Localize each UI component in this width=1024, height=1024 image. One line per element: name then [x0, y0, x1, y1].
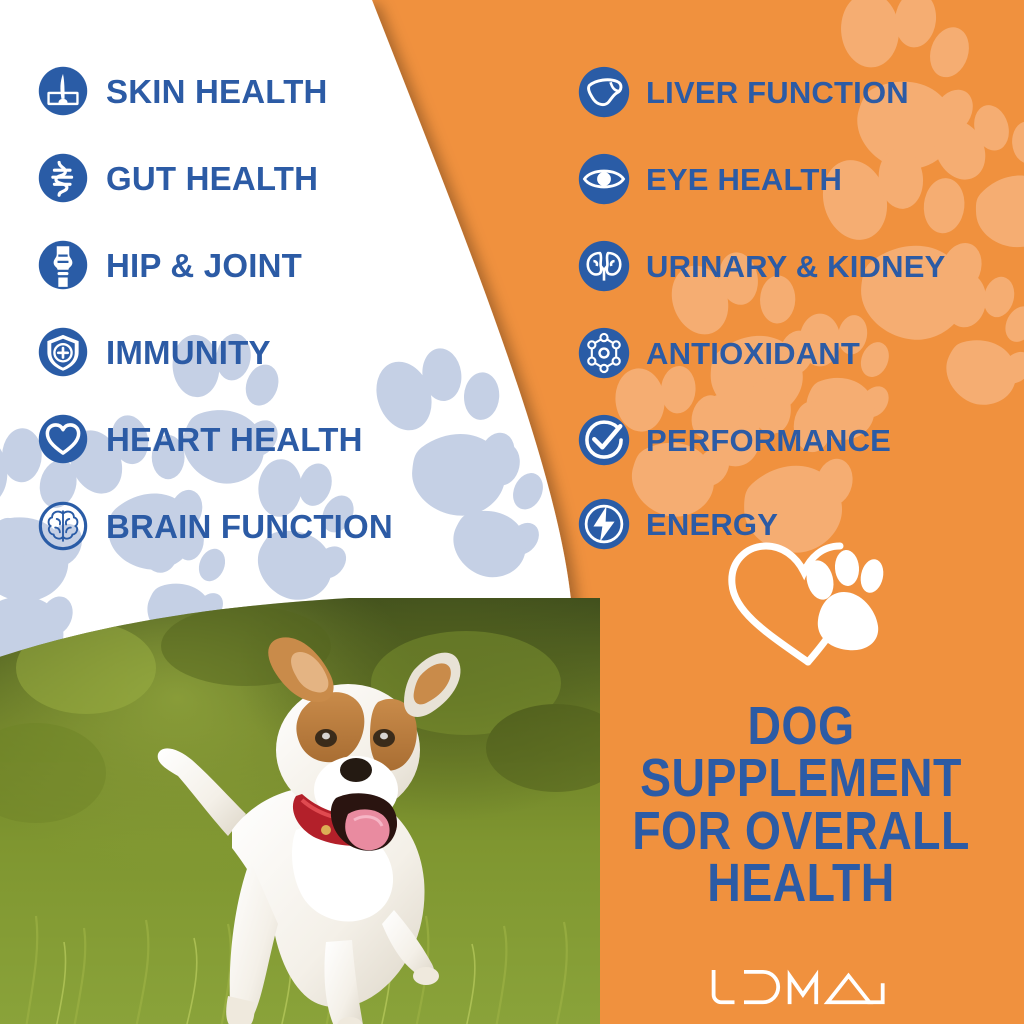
kidney-icon: [578, 240, 630, 292]
feature-label: EYE HEALTH: [646, 164, 842, 195]
feature-label: HIP & JOINT: [106, 249, 302, 282]
feature-item-immunity[interactable]: IMMUNITY: [38, 327, 271, 377]
molecule-icon: [578, 327, 630, 379]
feature-item-liver-function[interactable]: LIVER FUNCTION: [578, 66, 909, 118]
feature-item-urinary-kidney[interactable]: URINARY & KIDNEY: [578, 240, 945, 292]
heart-paw-logo: [716, 530, 896, 670]
jdma-wordmark-icon: [706, 966, 896, 1010]
brain-icon: [38, 501, 88, 551]
check-circle-icon: [578, 414, 630, 466]
feature-item-antioxidant[interactable]: ANTIOXIDANT: [578, 327, 860, 379]
headline-block: DOG SUPPLEMENT FOR OVERALL HEALTH: [609, 700, 993, 910]
feature-label: URINARY & KIDNEY: [646, 251, 945, 282]
feature-label: ANTIOXIDANT: [646, 338, 860, 369]
heart-icon: [38, 414, 88, 464]
intestine-icon: [38, 153, 88, 203]
feature-item-brain-function[interactable]: BRAIN FUNCTION: [38, 501, 393, 551]
joint-icon: [38, 240, 88, 290]
lightning-icon: [578, 498, 630, 550]
feature-label: HEART HEALTH: [106, 423, 363, 456]
liver-icon: [578, 66, 630, 118]
infographic-canvas: SKIN HEALTH GUT HEALTH: [0, 0, 1024, 1024]
feature-label: SKIN HEALTH: [106, 75, 328, 108]
brand-logo: [578, 966, 1024, 1015]
skin-icon: [38, 66, 88, 116]
feature-item-performance[interactable]: PERFORMANCE: [578, 414, 891, 466]
feature-label: GUT HEALTH: [106, 162, 318, 195]
feature-item-hip-joint[interactable]: HIP & JOINT: [38, 240, 302, 290]
feature-item-gut-health[interactable]: GUT HEALTH: [38, 153, 318, 203]
headline-line-2: SUPPLEMENT: [609, 752, 993, 804]
feature-label: IMMUNITY: [106, 336, 271, 369]
feature-item-heart-health[interactable]: HEART HEALTH: [38, 414, 363, 464]
feature-item-eye-health[interactable]: EYE HEALTH: [578, 153, 842, 205]
dog-photo: [0, 598, 600, 1024]
eye-icon: [578, 153, 630, 205]
feature-item-skin-health[interactable]: SKIN HEALTH: [38, 66, 328, 116]
headline-line-1: DOG: [609, 700, 993, 752]
feature-label: LIVER FUNCTION: [646, 77, 909, 108]
feature-label: PERFORMANCE: [646, 425, 891, 456]
feature-label: BRAIN FUNCTION: [106, 510, 393, 543]
shield-plus-icon: [38, 327, 88, 377]
headline-line-4: HEALTH: [609, 857, 993, 909]
headline-line-3: FOR OVERALL: [609, 805, 993, 857]
